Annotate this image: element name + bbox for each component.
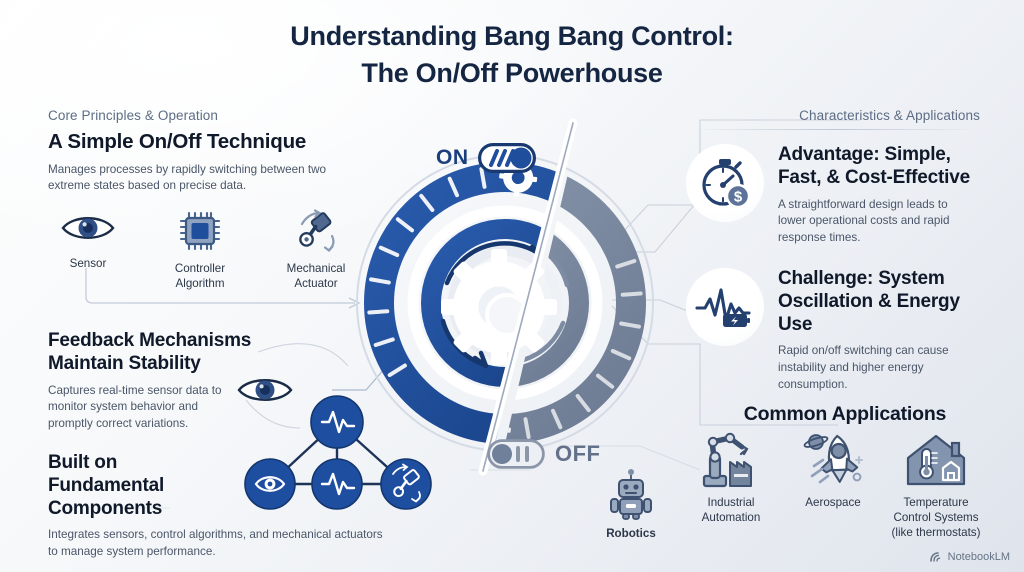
component-actuator: Mechanical Actuator bbox=[268, 208, 364, 291]
onoff-control-dial bbox=[355, 135, 655, 465]
advantage-heading-1: Advantage: Simple, bbox=[778, 144, 996, 167]
right-section-kicker: Characteristics & Applications bbox=[690, 108, 980, 130]
block3-heading-2: Fundamental bbox=[48, 475, 408, 498]
oscillation-battery-icon bbox=[695, 282, 755, 332]
application-aerospace-label: Aerospace bbox=[790, 495, 876, 510]
challenge-heading-3: Use bbox=[778, 314, 996, 337]
block-simple-technique: A Simple On/Off Technique Manages proces… bbox=[48, 130, 378, 195]
page-title: Understanding Bang Bang Control: The On/… bbox=[0, 18, 1024, 93]
application-robotics-label: Robotics bbox=[588, 526, 674, 541]
component-controller-label-2: Algorithm bbox=[152, 276, 248, 291]
title-line-2: The On/Off Powerhouse bbox=[0, 55, 1024, 92]
block-fundamental-components: Built on Fundamental Components Integrat… bbox=[48, 452, 408, 561]
application-temperature-label-3: (like thermostats) bbox=[880, 525, 992, 540]
block1-heading: A Simple On/Off Technique bbox=[48, 130, 378, 155]
challenge-body: Rapid on/off switching can cause instabi… bbox=[778, 343, 968, 393]
notebooklm-watermark: NotebookLM bbox=[929, 551, 1010, 563]
watermark-label: NotebookLM bbox=[948, 551, 1010, 563]
off-state-indicator: OFF bbox=[487, 439, 601, 469]
on-state-indicator: ON bbox=[436, 143, 536, 173]
application-industrial-automation: Industrial Automation bbox=[686, 432, 776, 525]
application-temperature-control: Temperature Control Systems (like thermo… bbox=[880, 432, 992, 540]
block2-heading-1: Feedback Mechanisms bbox=[48, 330, 308, 353]
component-sensor-label: Sensor bbox=[44, 256, 132, 271]
advantage-heading-2: Fast, & Cost-Effective bbox=[778, 167, 996, 190]
applications-heading-label: Common Applications bbox=[700, 403, 990, 426]
left-section-kicker: Core Principles & Operation bbox=[48, 108, 378, 123]
block3-body: Integrates sensors, control algorithms, … bbox=[48, 527, 393, 560]
challenge-icon-well bbox=[686, 268, 764, 346]
off-toggle-icon[interactable] bbox=[487, 439, 545, 469]
on-toggle-icon[interactable] bbox=[478, 143, 536, 173]
microchip-icon bbox=[176, 208, 224, 254]
application-temperature-label-2: Control Systems bbox=[880, 510, 992, 525]
block3-heading-1: Built on bbox=[48, 452, 408, 475]
right-kicker-label: Characteristics & Applications bbox=[690, 108, 980, 123]
robot-arm-factory-icon bbox=[700, 432, 762, 490]
component-actuator-label-2: Actuator bbox=[268, 276, 364, 291]
component-row: Sensor Controller Algorithm bbox=[44, 208, 364, 291]
block1-body: Manages processes by rapidly switching b… bbox=[48, 162, 328, 195]
block2-body: Captures real-time sensor data to monito… bbox=[48, 383, 243, 433]
off-label: OFF bbox=[555, 441, 601, 467]
block3-heading-3: Components bbox=[48, 498, 408, 521]
eye-icon bbox=[60, 208, 116, 248]
component-controller-label-1: Controller bbox=[152, 261, 248, 276]
application-temperature-label-1: Temperature bbox=[880, 495, 992, 510]
card-challenge: Challenge: System Oscillation & Energy U… bbox=[686, 268, 996, 393]
advantage-icon-well: $ bbox=[686, 144, 764, 222]
title-line-1: Understanding Bang Bang Control: bbox=[0, 18, 1024, 55]
left-kicker-label: Core Principles & Operation bbox=[48, 108, 378, 123]
svg-text:$: $ bbox=[734, 188, 743, 205]
challenge-heading-1: Challenge: System bbox=[778, 268, 996, 291]
notebooklm-logo-icon bbox=[929, 551, 943, 563]
infographic-canvas: Understanding Bang Bang Control: The On/… bbox=[0, 0, 1024, 572]
right-kicker-rule bbox=[690, 129, 980, 130]
component-actuator-label-1: Mechanical bbox=[268, 261, 364, 276]
component-sensor: Sensor bbox=[44, 208, 132, 291]
applications-heading: Common Applications bbox=[700, 403, 990, 426]
rocket-icon bbox=[802, 432, 864, 490]
application-industrial-label-2: Automation bbox=[686, 510, 776, 525]
advantage-body: A straightforward design leads to lower … bbox=[778, 197, 970, 247]
robot-icon bbox=[608, 468, 654, 520]
application-aerospace: Aerospace bbox=[790, 432, 876, 510]
house-thermometer-icon bbox=[903, 432, 969, 490]
component-controller: Controller Algorithm bbox=[152, 208, 248, 291]
application-robotics: Robotics bbox=[588, 468, 674, 541]
on-label: ON bbox=[436, 146, 469, 170]
application-industrial-label-1: Industrial bbox=[686, 495, 776, 510]
challenge-heading-2: Oscillation & Energy bbox=[778, 291, 996, 314]
card-advantage: $ Advantage: Simple, Fast, & Cost-Effect… bbox=[686, 144, 996, 246]
stopwatch-dollar-icon: $ bbox=[698, 156, 752, 210]
piston-actuator-icon bbox=[288, 208, 344, 256]
